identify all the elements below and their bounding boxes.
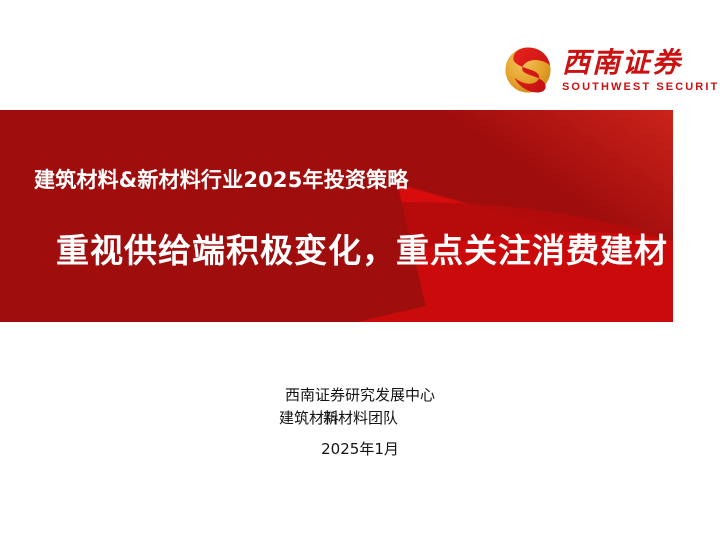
southwest-securities-swirl-icon [504, 46, 552, 94]
banner-text-group: 建筑材料&新材料行业2025年投资策略 重视供给端积极变化，重点关注消费建材 [0, 110, 673, 322]
slide-footer: 西南证券研究发展中心 建筑材料 新材料团队 2025年1月 [0, 384, 720, 461]
footer-team-run-b: 新材料团队 [323, 407, 398, 430]
footer-organization: 西南证券研究发展中心 [0, 384, 720, 407]
presentation-slide: 西南证券 SOUTHWEST SECURITIES 建筑材料&新材料行业2025… [0, 0, 720, 540]
report-subtitle: 建筑材料&新材料行业2025年投资策略 [34, 164, 409, 194]
footer-date: 2025年1月 [0, 437, 720, 461]
logo-wordmark-english: SOUTHWEST SECURITIES [562, 81, 720, 93]
svg-text:西南证券: 西南证券 [562, 46, 683, 79]
title-banner: 建筑材料&新材料行业2025年投资策略 重视供给端积极变化，重点关注消费建材 [0, 110, 673, 322]
report-headline: 重视供给端积极变化，重点关注消费建材 [56, 224, 668, 272]
footer-team-overlap: 建筑材料 新材料团队 [275, 407, 445, 430]
footer-team-line: 建筑材料 新材料团队 [0, 407, 720, 437]
logo-wordmark-chinese: 西南证券 [562, 44, 702, 80]
brand-logo: 西南证券 SOUTHWEST SECURITIES [504, 44, 700, 100]
